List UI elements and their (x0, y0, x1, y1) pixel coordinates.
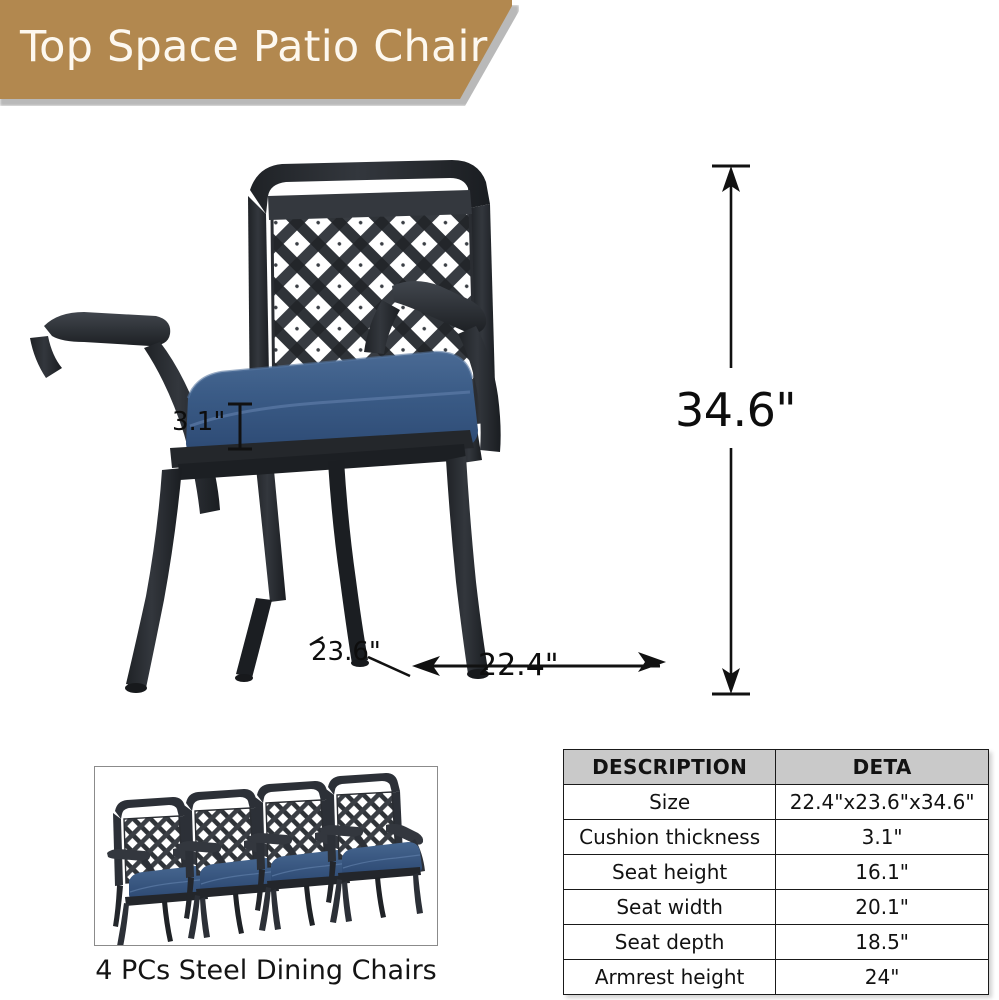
table-row: Seat width20.1" (564, 890, 989, 925)
specification-table: DESCRIPTION DETA Size22.4"x23.6"x34.6"Cu… (563, 749, 989, 995)
table-row: Armrest height24" (564, 960, 989, 995)
cell-description: Seat width (564, 890, 776, 925)
cell-detail: 22.4"x23.6"x34.6" (776, 785, 989, 820)
dimension-label-depth: 23.6" (311, 637, 381, 667)
table-row: Cushion thickness3.1" (564, 820, 989, 855)
cell-description: Size (564, 785, 776, 820)
table-header-description: DESCRIPTION (564, 750, 776, 785)
cell-description: Seat height (564, 855, 776, 890)
cell-description: Seat depth (564, 925, 776, 960)
cell-description: Cushion thickness (564, 820, 776, 855)
product-spec-sheet: Top Space Patio Chair (0, 0, 999, 1000)
table-row: Seat depth18.5" (564, 925, 989, 960)
cell-detail: 24" (776, 960, 989, 995)
dimension-label-width: 22.4" (478, 648, 559, 683)
four-chairs-thumbnail (95, 767, 437, 945)
dimension-label-cushion: 3.1" (172, 407, 225, 437)
table-header-row: DESCRIPTION DETA (564, 750, 989, 785)
product-thumbnail-box (94, 766, 438, 946)
thumbnail-caption: 4 PCs Steel Dining Chairs (94, 955, 438, 986)
table-body: Size22.4"x23.6"x34.6"Cushion thickness3.… (564, 785, 989, 995)
cell-detail: 18.5" (776, 925, 989, 960)
cell-description: Armrest height (564, 960, 776, 995)
table-row: Size22.4"x23.6"x34.6" (564, 785, 989, 820)
cell-detail: 3.1" (776, 820, 989, 855)
table-row: Seat height16.1" (564, 855, 989, 890)
cell-detail: 20.1" (776, 890, 989, 925)
cell-detail: 16.1" (776, 855, 989, 890)
page-title: Top Space Patio Chair (20, 25, 488, 70)
spec-table-container: DESCRIPTION DETA Size22.4"x23.6"x34.6"Cu… (563, 749, 989, 995)
table-header-detail: DETA (776, 750, 989, 785)
dimension-label-height: 34.6" (675, 383, 796, 437)
